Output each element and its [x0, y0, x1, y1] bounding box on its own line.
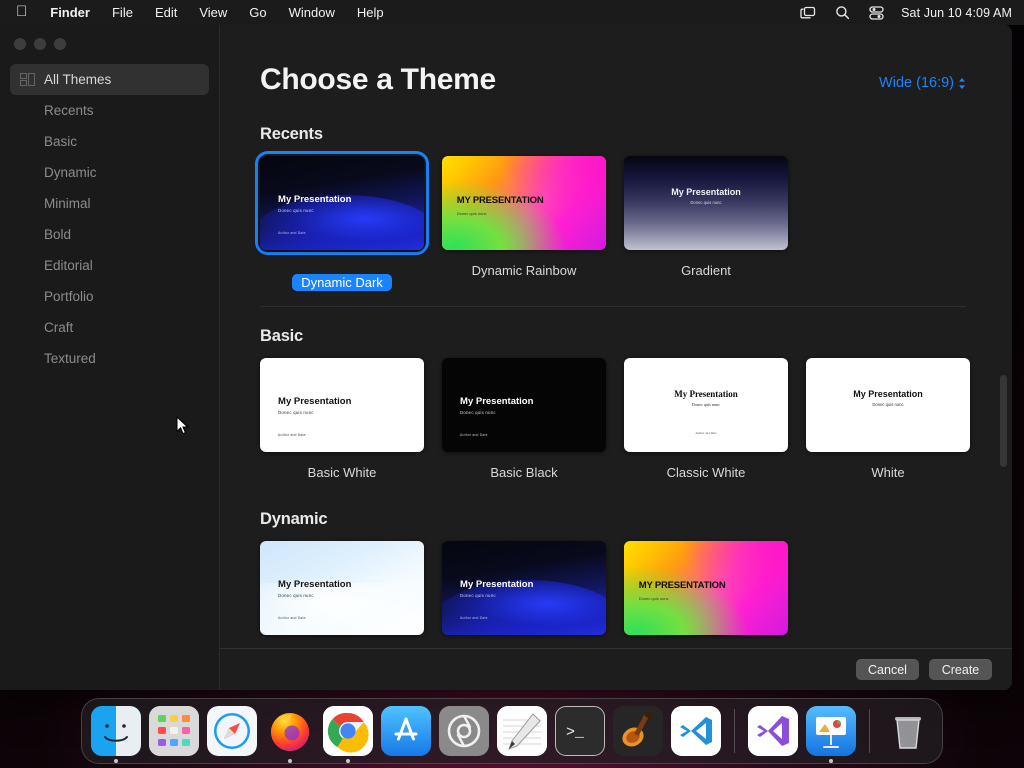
- screen:  Finder File Edit View Go Window Help S…: [0, 0, 1024, 768]
- menu-item-file[interactable]: File: [101, 0, 144, 25]
- dock-item-safari[interactable]: [207, 706, 257, 756]
- menu-item-view[interactable]: View: [188, 0, 238, 25]
- firefox-icon: [265, 706, 315, 756]
- theme-name: Basic White: [308, 465, 377, 480]
- theme-card-basic-black[interactable]: My Presentation Donec quis nunc Author a…: [442, 358, 606, 482]
- close-button[interactable]: [14, 38, 26, 50]
- sidebar-item-craft[interactable]: Craft: [10, 312, 209, 343]
- dock-item-app-store[interactable]: [381, 706, 431, 756]
- sidebar-item-label: Dynamic: [44, 165, 97, 180]
- slide-title: My Presentation: [278, 194, 351, 205]
- slide-subtitle: Donec quis nunc: [460, 410, 496, 415]
- section-dynamic: Dynamic My Presentation Donec quis nunc …: [220, 510, 1012, 648]
- theme-name: Basic Black: [490, 465, 557, 480]
- theme-card-basic-white[interactable]: My Presentation Donec quis nunc Author a…: [260, 358, 424, 482]
- cancel-button[interactable]: Cancel: [856, 659, 919, 680]
- svg-text:>_: >_: [566, 724, 585, 741]
- slide-footer: Author and Date: [278, 616, 306, 620]
- menu-item-finder[interactable]: Finder: [39, 0, 101, 25]
- theme-grid: My Presentation Donec quis nunc Author a…: [260, 156, 966, 292]
- screen-mirroring-icon[interactable]: [799, 4, 817, 22]
- mouse-cursor: [176, 416, 190, 441]
- notes-icon: [497, 706, 547, 756]
- dock-item-keynote[interactable]: [806, 706, 856, 756]
- section-heading: Recents: [260, 125, 966, 144]
- theme-thumbnail-frame[interactable]: My Presentation Donec quis nunc: [806, 358, 970, 452]
- sidebar: All Themes Recents Basic Dynamic Minimal: [0, 25, 220, 690]
- dock-item-garageband[interactable]: [613, 706, 663, 756]
- theme-card-dynamic-dark-2[interactable]: My Presentation Donec quis nunc Author a…: [442, 541, 606, 648]
- craft-icon: [20, 321, 35, 334]
- theme-caption-row: Basic White: [260, 464, 424, 482]
- theme-thumbnail: My Presentation Donec quis nunc: [624, 156, 788, 250]
- theme-grid: My Presentation Donec quis nunc Author a…: [260, 358, 966, 482]
- sidebar-item-dynamic[interactable]: Dynamic: [10, 157, 209, 188]
- trash-icon: [883, 706, 933, 756]
- dock-item-finder[interactable]: [91, 706, 141, 756]
- theme-thumbnail: MY PRESENTATION Donec quis nunc: [442, 156, 606, 250]
- menu-bar:  Finder File Edit View Go Window Help S…: [0, 0, 1024, 25]
- dock-item-chrome[interactable]: [323, 706, 373, 756]
- theme-card-dynamic-dark[interactable]: My Presentation Donec quis nunc Author a…: [260, 156, 424, 292]
- slide-subtitle: Donec quis nunc: [460, 593, 496, 598]
- theme-thumbnail: My Presentation Donec quis nunc Author a…: [260, 358, 424, 452]
- theme-thumbnail-frame[interactable]: My Presentation Donec quis nunc Author a…: [624, 358, 788, 452]
- theme-thumbnail-frame[interactable]: My Presentation Donec quis nunc Author a…: [260, 358, 424, 452]
- slide-subtitle: Donec quis nunc: [806, 402, 970, 407]
- sidebar-item-label: Craft: [44, 320, 73, 335]
- theme-browser: Choose a Theme Wide (16:9) Recents: [220, 25, 1012, 690]
- theme-name: Gradient: [681, 263, 731, 278]
- sidebar-item-label: Portfolio: [44, 289, 94, 304]
- clock-icon: [20, 104, 35, 117]
- dialog-button-bar: Cancel Create: [220, 648, 1012, 690]
- slide-subtitle: Donec quis nunc: [278, 410, 314, 415]
- running-indicator: [346, 759, 350, 763]
- sidebar-item-label: Basic: [44, 134, 77, 149]
- theme-thumbnail: MY PRESENTATION Donec quis nunc: [624, 541, 788, 635]
- theme-card-dynamic-rainbow-2[interactable]: MY PRESENTATION Donec quis nunc Dynamic …: [624, 541, 788, 648]
- editorial-icon: [20, 259, 35, 272]
- portfolio-icon: [20, 290, 35, 303]
- maximize-button[interactable]: [54, 38, 66, 50]
- slide-footer: Author and Date: [460, 433, 488, 437]
- vscode-icon: [671, 706, 721, 756]
- basic-icon: [20, 135, 35, 148]
- sidebar-list: All Themes Recents Basic Dynamic Minimal: [0, 64, 219, 374]
- launchpad-icon: [149, 706, 199, 756]
- running-indicator: [114, 759, 118, 763]
- dock-item-visual-studio[interactable]: [748, 706, 798, 756]
- theme-thumbnail-frame[interactable]: My Presentation Donec quis nunc Author a…: [260, 156, 424, 250]
- slide-subtitle: Donec quis nunc: [639, 596, 669, 601]
- theme-grid: My Presentation Donec quis nunc Author a…: [260, 541, 966, 648]
- theme-thumbnail-frame[interactable]: My Presentation Donec quis nunc Author a…: [442, 358, 606, 452]
- menu-item-go[interactable]: Go: [238, 0, 277, 25]
- sidebar-item-editorial[interactable]: Editorial: [10, 250, 209, 281]
- slide-footer: Author and Date: [624, 431, 788, 435]
- dock-item-notes[interactable]: [497, 706, 547, 756]
- sidebar-item-bold[interactable]: Bold: [10, 219, 209, 250]
- dock-item-system-settings[interactable]: [439, 706, 489, 756]
- minimal-icon: [20, 197, 35, 210]
- sidebar-item-label: Textured: [44, 351, 96, 366]
- sidebar-item-portfolio[interactable]: Portfolio: [10, 281, 209, 312]
- finder-icon: [91, 706, 141, 756]
- theme-card-white[interactable]: My Presentation Donec quis nunc White: [806, 358, 970, 482]
- dock-item-trash[interactable]: [883, 706, 933, 756]
- running-indicator: [288, 759, 292, 763]
- apple-logo-icon[interactable]: : [10, 0, 39, 24]
- theme-thumbnail: My Presentation Donec quis nunc Author a…: [260, 541, 424, 635]
- theme-thumbnail: My Presentation Donec quis nunc Author a…: [442, 358, 606, 452]
- dock: >_: [81, 698, 943, 764]
- sidebar-item-recents[interactable]: Recents: [10, 95, 209, 126]
- theme-thumbnail: My Presentation Donec quis nunc: [806, 358, 970, 452]
- slide-title: My Presentation: [624, 187, 788, 197]
- aspect-ratio-popup[interactable]: Wide (16:9): [879, 75, 966, 97]
- system-settings-icon: [439, 706, 489, 756]
- theme-thumbnail: My Presentation Donec quis nunc Author a…: [624, 358, 788, 452]
- sidebar-item-label: Editorial: [44, 258, 93, 273]
- slide-title: My Presentation: [278, 396, 351, 407]
- theme-name: White: [871, 465, 904, 480]
- slide-title: My Presentation: [624, 389, 788, 399]
- dynamic-icon: [20, 166, 35, 179]
- dock-item-firefox[interactable]: [265, 706, 315, 756]
- theme-thumbnail-frame[interactable]: My Presentation Donec quis nunc Author a…: [260, 541, 424, 635]
- sidebar-item-label: Minimal: [44, 196, 91, 211]
- theme-card-classic-white[interactable]: My Presentation Donec quis nunc Author a…: [624, 358, 788, 482]
- sidebar-item-label: All Themes: [44, 72, 111, 87]
- theme-caption-row: White: [806, 464, 970, 482]
- theme-thumbnail-frame[interactable]: MY PRESENTATION Donec quis nunc: [442, 156, 606, 250]
- window-controls: [0, 25, 219, 50]
- dock-divider: [734, 709, 735, 753]
- menu-bar-clock[interactable]: Sat Jun 10 4:09 AM: [901, 6, 1012, 20]
- dock-item-vscode[interactable]: [671, 706, 721, 756]
- running-indicator: [829, 759, 833, 763]
- menu-item-help[interactable]: Help: [346, 0, 395, 25]
- menu-bar-status-area: Sat Jun 10 4:09 AM: [799, 4, 1024, 22]
- aspect-ratio-label: Wide (16:9): [879, 75, 954, 91]
- visual-studio-icon: [748, 706, 798, 756]
- theme-thumbnail-frame[interactable]: MY PRESENTATION Donec quis nunc: [624, 541, 788, 635]
- theme-thumbnail-frame[interactable]: My Presentation Donec quis nunc: [624, 156, 788, 250]
- textured-icon: [20, 352, 35, 365]
- menu-bar-left:  Finder File Edit View Go Window Help: [0, 0, 395, 25]
- themes-grid-icon: [20, 73, 35, 86]
- theme-name: Classic White: [667, 465, 746, 480]
- create-button[interactable]: Create: [929, 659, 992, 680]
- terminal-icon: >_: [555, 706, 605, 756]
- slide-title: My Presentation: [278, 579, 351, 590]
- chrome-icon: [323, 706, 373, 756]
- chevron-up-down-icon: [958, 77, 966, 90]
- slide-footer: Author and Date: [460, 616, 488, 620]
- control-center-icon[interactable]: [867, 4, 885, 22]
- theme-thumbnail: My Presentation Donec quis nunc Author a…: [442, 541, 606, 635]
- dock-divider-2: [869, 709, 870, 753]
- slide-title: My Presentation: [806, 389, 970, 399]
- theme-name: Dynamic Rainbow: [472, 263, 577, 278]
- sidebar-item-all-themes[interactable]: All Themes: [10, 64, 209, 95]
- theme-card-dynamic-rainbow[interactable]: MY PRESENTATION Donec quis nunc Dynamic …: [442, 156, 606, 292]
- dock-item-terminal[interactable]: >_: [555, 706, 605, 756]
- slide-footer: Author and Date: [278, 433, 306, 437]
- theme-caption-row: Dynamic Dark: [260, 262, 424, 292]
- slide-subtitle: Donec quis nunc: [278, 593, 314, 598]
- vertical-scrollbar[interactable]: [1000, 375, 1007, 467]
- spotlight-search-icon[interactable]: [833, 4, 851, 22]
- sidebar-item-label: Bold: [44, 227, 71, 242]
- menu-item-window[interactable]: Window: [278, 0, 346, 25]
- section-divider: [260, 306, 966, 307]
- sidebar-item-textured[interactable]: Textured: [10, 343, 209, 374]
- sidebar-item-label: Recents: [44, 103, 94, 118]
- section-heading: Dynamic: [260, 510, 966, 529]
- section-recents: Recents My Presentation Donec quis nunc …: [220, 125, 1012, 292]
- theme-caption-row: Dynamic Rainbow: [442, 262, 606, 280]
- section-heading: Basic: [260, 327, 966, 346]
- slide-footer: Author and Date: [278, 231, 306, 235]
- page-title: Choose a Theme: [260, 63, 496, 97]
- theme-caption-row: Classic White: [624, 464, 788, 482]
- theme-card-gradient[interactable]: My Presentation Donec quis nunc Gradient: [624, 156, 788, 292]
- slide-subtitle: Donec quis nunc: [624, 402, 788, 407]
- sidebar-item-minimal[interactable]: Minimal: [10, 188, 209, 219]
- theme-scroll-area[interactable]: Choose a Theme Wide (16:9) Recents: [220, 25, 1012, 648]
- menu-item-edit[interactable]: Edit: [144, 0, 188, 25]
- slide-subtitle: Donec quis nunc: [278, 208, 314, 213]
- theme-caption-row: Basic Black: [442, 464, 606, 482]
- minimize-button[interactable]: [34, 38, 46, 50]
- theme-chooser-window: All Themes Recents Basic Dynamic Minimal: [0, 25, 1012, 690]
- theme-thumbnail-frame[interactable]: My Presentation Donec quis nunc Author a…: [442, 541, 606, 635]
- keynote-icon: [806, 706, 856, 756]
- garageband-icon: [613, 706, 663, 756]
- slide-title: MY PRESENTATION: [639, 580, 726, 591]
- slide-subtitle: Donec quis nunc: [457, 211, 487, 216]
- theme-caption-row: Gradient: [624, 262, 788, 280]
- safari-icon: [207, 706, 257, 756]
- theme-card-dynamic-light[interactable]: My Presentation Donec quis nunc Author a…: [260, 541, 424, 648]
- section-basic: Basic My Presentation Donec quis nunc Au…: [220, 327, 1012, 482]
- bold-icon: [20, 228, 35, 241]
- chooser-header: Choose a Theme Wide (16:9): [220, 25, 1012, 97]
- theme-name: Dynamic Dark: [292, 274, 392, 291]
- sidebar-item-basic[interactable]: Basic: [10, 126, 209, 157]
- theme-thumbnail: My Presentation Donec quis nunc Author a…: [260, 156, 424, 250]
- app-store-icon: [381, 706, 431, 756]
- slide-title: My Presentation: [460, 579, 533, 590]
- slide-title: MY PRESENTATION: [457, 195, 544, 206]
- dock-item-launchpad[interactable]: [149, 706, 199, 756]
- slide-subtitle: Donec quis nunc: [624, 200, 788, 205]
- slide-title: My Presentation: [460, 396, 533, 407]
